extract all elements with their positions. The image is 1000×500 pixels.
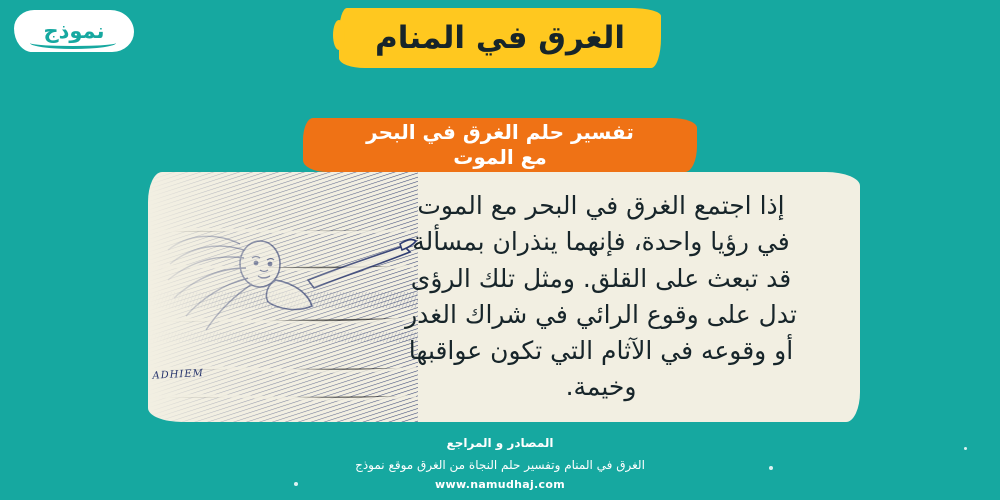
poster-canvas: نموذج الغرق في المنام تفسير حلم الغرق في… bbox=[0, 0, 1000, 500]
content-card: ADHIEM إذا اجتمع الغرق في البحر مع الموت… bbox=[148, 172, 860, 422]
page-title: الغرق في المنام bbox=[375, 23, 625, 54]
decor-dot bbox=[769, 466, 773, 470]
body-paragraph: إذا اجتمع الغرق في البحر مع الموت في رؤي… bbox=[366, 188, 836, 406]
decor-dot bbox=[964, 447, 967, 450]
footer-sources-line: الغرق في المنام وتفسير حلم النجاة من الغ… bbox=[0, 458, 1000, 472]
footer: المصادر و المراجع الغرق في المنام وتفسير… bbox=[0, 432, 1000, 500]
subtitle-banner: تفسير حلم الغرق في البحر مع الموت bbox=[303, 118, 697, 172]
logo-underline-swoosh bbox=[30, 37, 116, 49]
footer-website[interactable]: www.namudhaj.com bbox=[0, 478, 1000, 491]
footer-sources-title: المصادر و المراجع bbox=[0, 436, 1000, 450]
subtitle-text: تفسير حلم الغرق في البحر مع الموت bbox=[366, 120, 634, 170]
decor-dot bbox=[294, 482, 298, 486]
brand-logo[interactable]: نموذج bbox=[14, 10, 134, 52]
title-banner: الغرق في المنام bbox=[339, 8, 661, 68]
